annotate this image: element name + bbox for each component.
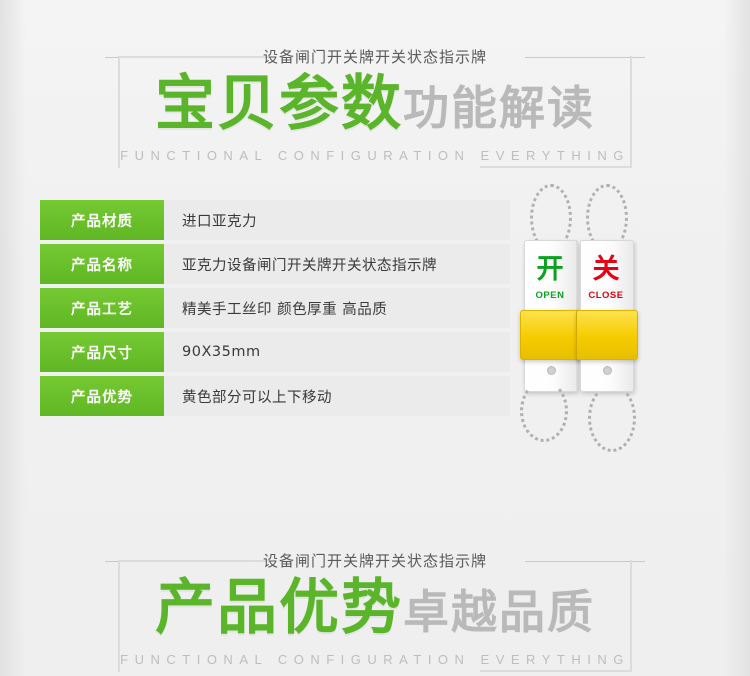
header-subtitle: 设备闸门开关牌开关状态指示牌 xyxy=(0,46,750,67)
footer-banner: 设备闸门开关牌开关状态指示牌 产品优势卓越品质 FUNCTIONAL CONFI… xyxy=(0,536,750,676)
footer-subtitle: 设备闸门开关牌开关状态指示牌 xyxy=(0,550,750,571)
spec-value: 黄色部分可以上下移动 xyxy=(164,376,510,416)
decor-bracket-bottom-left xyxy=(118,560,270,672)
spec-value: 精美手工丝印 颜色厚重 高品质 xyxy=(164,288,510,328)
spec-value: 进口亚克力 xyxy=(164,200,510,240)
decor-bracket-top-left xyxy=(118,56,270,168)
spec-value: 90X35mm xyxy=(164,332,510,372)
spec-key: 产品名称 xyxy=(40,244,164,284)
close-tag-cn-label: 关 xyxy=(580,256,632,283)
decor-bracket-bottom-right xyxy=(480,560,632,672)
header-english-title: FUNCTIONAL CONFIGURATION EVERYTHING xyxy=(0,148,750,163)
bead-chain-bottom-left-icon xyxy=(520,380,568,442)
tag-gap-divider xyxy=(576,240,577,390)
close-tag: 关 CLOSE xyxy=(580,240,632,390)
close-tag-en-label: CLOSE xyxy=(580,290,632,301)
table-row: 产品优势 黄色部分可以上下移动 xyxy=(40,376,510,416)
main-content: 产品材质 进口亚克力 产品名称 亚克力设备闸门开关牌开关状态指示牌 产品工艺 精… xyxy=(0,180,750,536)
bead-chain-bottom-right-icon xyxy=(588,384,636,452)
table-row: 产品尺寸 90X35mm xyxy=(40,332,510,372)
open-tag: 开 OPEN xyxy=(524,240,576,390)
close-tag-yellow-slider xyxy=(576,310,638,360)
decor-bracket-top-right xyxy=(480,56,632,168)
spec-key: 产品材质 xyxy=(40,200,164,240)
table-row: 产品工艺 精美手工丝印 颜色厚重 高品质 xyxy=(40,288,510,328)
footer-english-title: FUNCTIONAL CONFIGURATION EVERYTHING xyxy=(0,652,750,667)
spec-key: 产品优势 xyxy=(40,376,164,416)
table-row: 产品名称 亚克力设备闸门开关牌开关状态指示牌 xyxy=(40,244,510,284)
table-row: 产品材质 进口亚克力 xyxy=(40,200,510,240)
product-detail-page: 设备闸门开关牌开关状态指示牌 宝贝参数功能解读 FUNCTIONAL CONFI… xyxy=(0,0,750,676)
product-photo: 开 OPEN 关 CLOSE xyxy=(500,180,710,480)
open-tag-yellow-slider xyxy=(520,310,582,360)
close-tag-hole-icon xyxy=(603,366,612,375)
open-tag-hole-icon xyxy=(547,366,556,375)
footer-title: 产品优势卓越品质 xyxy=(0,578,750,638)
spec-table: 产品材质 进口亚克力 产品名称 亚克力设备闸门开关牌开关状态指示牌 产品工艺 精… xyxy=(40,196,510,420)
spec-value: 亚克力设备闸门开关牌开关状态指示牌 xyxy=(164,244,510,284)
open-tag-cn-label: 开 xyxy=(524,256,576,283)
open-tag-en-label: OPEN xyxy=(524,290,576,301)
spec-key: 产品尺寸 xyxy=(40,332,164,372)
header-title: 宝贝参数功能解读 xyxy=(0,74,750,134)
header-banner: 设备闸门开关牌开关状态指示牌 宝贝参数功能解读 FUNCTIONAL CONFI… xyxy=(0,0,750,180)
spec-key: 产品工艺 xyxy=(40,288,164,328)
